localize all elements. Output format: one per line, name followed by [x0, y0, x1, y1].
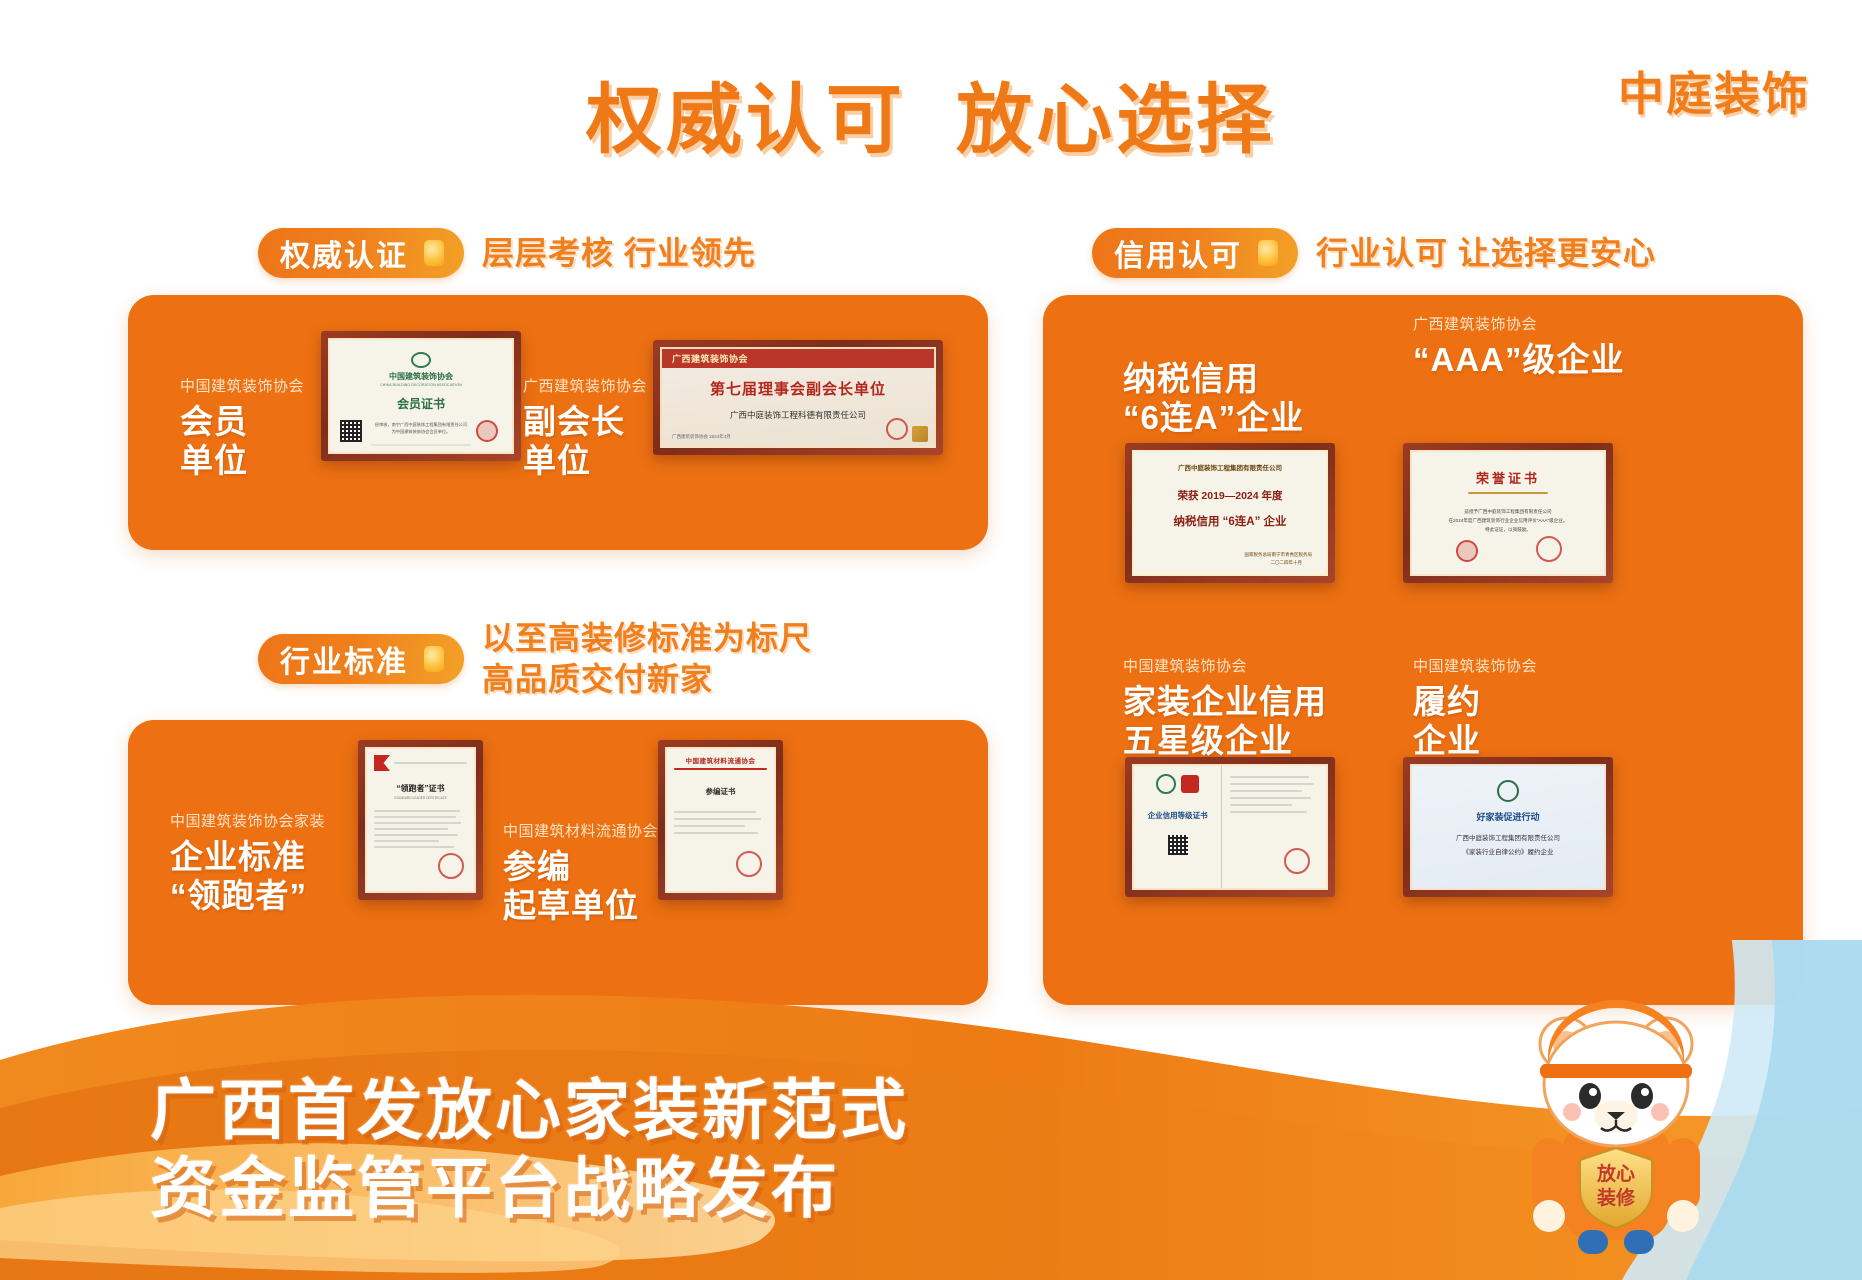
mascot-badge-line1: 放心: [1596, 1162, 1635, 1185]
badge-authority-label: 权威认证: [280, 231, 408, 275]
cert-divider: [394, 762, 467, 764]
cert-art-heading-vice-chair: 第七届理事会副会长单位: [710, 378, 886, 399]
cert-art-org-vice-chair: 广西建筑装饰协会: [662, 349, 934, 368]
banner-headline: 广西首发放心家装新范式 资金监管平台战略发布: [150, 1072, 909, 1228]
cert-art-line2-performance: 《家装行业自律公约》履约企业: [1463, 846, 1554, 856]
mascot-hand-left: [1533, 1200, 1565, 1232]
gold-emblem-icon: [912, 426, 928, 442]
badge-credit: 信用认可: [1092, 228, 1298, 278]
cert-divider: [1468, 492, 1547, 494]
mascot-leg-right: [1624, 1230, 1654, 1254]
badge-dot-icon: [424, 240, 444, 266]
cert-art-lines: [374, 810, 467, 848]
cert-art-org-en-member: CHINA BUILDING DECORATION ASSOCIATION: [380, 383, 462, 387]
badge-standard: 行业标准: [258, 634, 464, 684]
cert-art-body-vice-chair: 广西中庭装饰工程科德有限责任公司: [730, 409, 866, 421]
cert-art-left-panel: 企业信用等级证书: [1134, 766, 1222, 888]
cert-title-performance: 履约 企业: [1413, 683, 1643, 761]
association-seal-icon: [1156, 774, 1176, 794]
cert-image-aaa: 荣誉证书 兹授予广西中庭装饰工程集团有限责任公司 在2024年度广西建筑装饰行业…: [1403, 443, 1613, 583]
cert-art-heading-draft-unit: 参编证书: [674, 786, 767, 797]
brand-logo: 中庭装饰: [1618, 58, 1810, 124]
cert-title-tax-6a: 纳税信用 “6连A”企业: [1123, 360, 1383, 438]
section-header-credit: 信用认可 行业认可 让选择更安心: [1092, 228, 1656, 278]
cert-image-member: 中国建筑装饰协会 CHINA BUILDING DECORATION ASSOC…: [321, 331, 521, 461]
red-seal-icon: [886, 418, 908, 440]
cert-art-body-member: 经审核，南宁广西中庭装饰工程集团有限责任公司 为中国建筑装饰协会会员单位。: [350, 421, 493, 435]
cert-art-body-aaa: 兹授予广西中庭装饰工程集团有限责任公司 在2024年度广西建筑装饰行业企业信用评…: [1429, 507, 1587, 535]
cert-assoc-standard-leader: 中国建筑装饰协会家装: [170, 810, 365, 831]
cert-art-footer2-tax-6a: 二〇二四年十月: [1271, 560, 1303, 566]
cert-image-tax-6a: 广西中庭装饰工程集团有限责任公司 荣获 2019—2024 年度 纳税信用 “6…: [1125, 443, 1335, 583]
cert-art-heading-member: 会员证书: [397, 395, 445, 412]
cert-assoc-five-star: 中国建筑装饰协会: [1123, 655, 1393, 676]
section-subtitle-authority: 层层考核 行业领先: [482, 233, 756, 274]
mascot-hand-right: [1667, 1200, 1699, 1232]
cert-art-footer1-tax-6a: 国家税务总局南宁市青秀区税务局: [1245, 552, 1313, 558]
association-seal-icon: [1497, 780, 1519, 802]
cert-art-heading-five-star: 企业信用等级证书: [1148, 810, 1208, 821]
mascot-helmet-badge: [1606, 1024, 1628, 1044]
badge-authority: 权威认证: [258, 228, 464, 278]
poster-root: 权威认可 放心选择 中庭装饰 权威认证 层层考核 行业领先 中国建筑装饰协会 会…: [0, 0, 1862, 1280]
badge-standard-label: 行业标准: [280, 637, 408, 681]
cert-image-vice-chair: 广西建筑装饰协会 第七届理事会副会长单位 广西中庭装饰工程科德有限责任公司 广西…: [653, 340, 943, 455]
section-subtitle-standard: 以至高装修标准为标尺 高品质交付新家: [482, 618, 812, 700]
red-seal-icon: [1284, 848, 1310, 874]
section-subtitle-credit: 行业认可 让选择更安心: [1316, 233, 1656, 274]
cert-label-five-star: 中国建筑装饰协会 家装企业信用 五星级企业: [1123, 655, 1393, 761]
cert-art-line1-tax-6a: 荣获 2019—2024 年度: [1177, 488, 1282, 503]
cert-art-heading-standard-leader: “领跑者”证书: [374, 783, 467, 794]
qr-code-icon: [1168, 835, 1188, 855]
cert-divider: [674, 768, 767, 770]
badge-dot-icon: [424, 646, 444, 672]
cert-art-line2-tax-6a: 纳税信用 “6连A” 企业: [1173, 513, 1286, 529]
red-seal-icon: [476, 420, 498, 442]
mascot-eye-left: [1579, 1083, 1601, 1109]
mascot-figure: 放心 装修: [1466, 972, 1766, 1262]
mascot-leg-left: [1578, 1230, 1608, 1254]
red-emblem-icon: [1181, 775, 1199, 793]
section-header-authority: 权威认证 层层考核 行业领先: [258, 228, 756, 278]
badge-credit-label: 信用认可: [1114, 231, 1242, 275]
cert-label-aaa: 广西建筑装饰协会 “AAA”级企业: [1413, 313, 1663, 380]
cert-divider: [371, 444, 471, 446]
cert-art-org-draft-unit: 中国建筑材料流通协会: [674, 755, 767, 765]
cert-art-heading-performance: 好家装促进行动: [1476, 810, 1539, 823]
red-seal-icon: [736, 851, 762, 877]
cert-art-lines: [674, 811, 767, 834]
association-seal-icon: [411, 352, 431, 368]
cert-art-line1-performance: 广西中庭装饰工程集团有限责任公司: [1456, 832, 1560, 842]
mascot-badge-line2: 装修: [1596, 1186, 1636, 1209]
cert-image-five-star: 企业信用等级证书: [1125, 757, 1335, 897]
cert-art-company-tax-6a: 广西中庭装饰工程集团有限责任公司: [1178, 462, 1282, 472]
panel-authority: 中国建筑装饰协会 会员 单位 中国建筑装饰协会 CHINA BUILDING D…: [128, 295, 988, 550]
qr-code-icon: [340, 420, 362, 442]
cert-art-footer-vice-chair: 广西建筑装饰协会 2024年4月: [672, 434, 731, 440]
cert-title-five-star: 家装企业信用 五星级企业: [1123, 683, 1393, 761]
cert-art-heading-en-standard-leader: STANDARD LEADER CERTIFICATE: [374, 796, 467, 800]
section-header-standard: 行业标准 以至高装修标准为标尺 高品质交付新家: [258, 618, 812, 700]
cert-assoc-aaa: 广西建筑装饰协会: [1413, 313, 1663, 334]
cert-art-org-member: 中国建筑装饰协会: [389, 371, 453, 382]
cert-title-standard-leader: 企业标准 “领跑者”: [170, 838, 365, 916]
red-seal-icon: [1456, 540, 1478, 562]
cert-title-aaa: “AAA”级企业: [1413, 341, 1663, 380]
cert-image-standard-leader: “领跑者”证书 STANDARD LEADER CERTIFICATE: [358, 740, 483, 900]
cert-image-draft-unit: 中国建筑材料流通协会 参编证书: [658, 740, 783, 900]
cert-label-tax-6a: 纳税信用 “6连A”企业: [1123, 360, 1383, 438]
cert-image-performance: 好家装促进行动 广西中庭装饰工程集团有限责任公司 《家装行业自律公约》履约企业: [1403, 757, 1613, 897]
badge-dot-icon: [1258, 240, 1278, 266]
cert-assoc-performance: 中国建筑装饰协会: [1413, 655, 1643, 676]
page-title: 权威认可 放心选择: [0, 58, 1862, 168]
cert-label-standard-leader: 中国建筑装饰协会家装 企业标准 “领跑者”: [170, 810, 365, 916]
red-seal-icon: [438, 853, 464, 879]
cert-art-right-panel: [1222, 766, 1326, 888]
cert-art-heading-aaa: 荣誉证书: [1476, 468, 1540, 487]
mascot-eye-right: [1631, 1083, 1653, 1109]
cert-label-performance: 中国建筑装饰协会 履约 企业: [1413, 655, 1643, 761]
red-seal-icon: [1536, 536, 1562, 562]
leader-logo-icon: [374, 755, 390, 771]
panel-credit: 纳税信用 “6连A”企业 广西中庭装饰工程集团有限责任公司 荣获 2019—20…: [1043, 295, 1803, 1005]
